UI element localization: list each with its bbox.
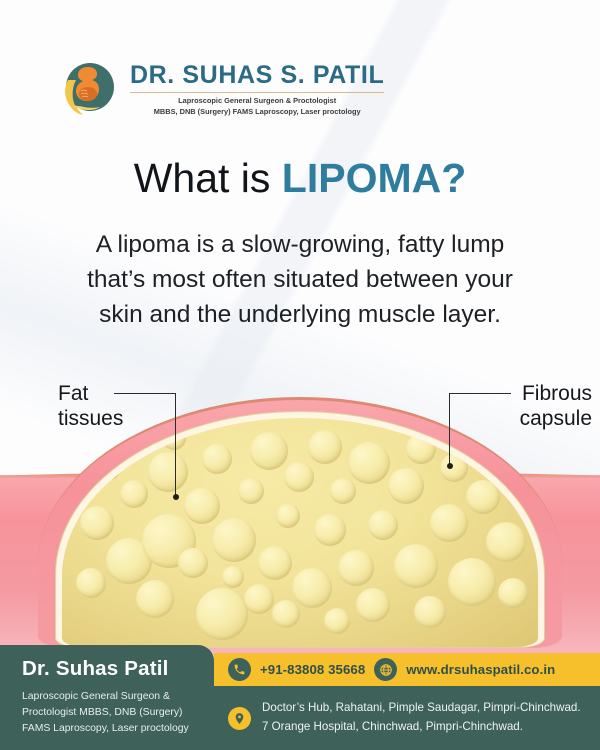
- brand-subtitle-line1: Laproscopic General Surgeon & Proctologi…: [130, 96, 384, 107]
- footer-credentials-line3: FAMS Laproscopy, Laser proctology: [22, 721, 202, 737]
- fibrous-capsule-anchor-dot: [447, 463, 453, 469]
- phone-icon: [228, 658, 251, 681]
- fat-tissues-leader-horizontal: [114, 393, 176, 394]
- address-line-2: 7 Orange Hospital, Chinchwad, Pimpri-Chi…: [262, 720, 523, 733]
- fat-tissues-leader-vertical: [175, 393, 176, 496]
- phone-number[interactable]: +91-83808 35668: [260, 662, 365, 677]
- fat-tissues-label-line1: Fat: [58, 382, 123, 407]
- footer-doctor-name: Dr. Suhas Patil: [22, 659, 202, 680]
- fibrous-capsule-label-line2: capsule: [520, 407, 592, 432]
- footer-credentials-line1: Laproscopic General Surgeon &: [22, 689, 202, 705]
- fibrous-capsule-label-line1: Fibrous: [520, 382, 592, 407]
- brand-divider: [130, 92, 384, 93]
- fat-tissues-label: Fat tissues: [58, 382, 123, 432]
- website-url[interactable]: www.drsuhaspatil.co.in: [406, 662, 555, 677]
- contact-bar: +91-83808 35668 www.drsuhaspatil.co.in: [214, 653, 600, 686]
- brand-header: DR. SUHAS S. PATIL Laproscopic General S…: [58, 58, 384, 120]
- page-title-prefix: What is: [134, 155, 282, 201]
- footer-doctor-block: Dr. Suhas Patil Laproscopic General Surg…: [0, 645, 214, 750]
- brand-name: DR. SUHAS S. PATIL: [130, 63, 384, 88]
- footer-credentials-line2: Proctologist MBBS, DNB (Surgery): [22, 705, 202, 721]
- address-lines: Doctor’s Hub, Rahatani, Pimple Saudagar,…: [262, 699, 581, 737]
- address-line-1: Doctor’s Hub, Rahatani, Pimple Saudagar,…: [262, 701, 581, 714]
- address-block: Doctor’s Hub, Rahatani, Pimple Saudagar,…: [214, 686, 600, 750]
- location-pin-icon: [228, 707, 251, 730]
- brand-subtitle-line2: MBBS, DNB (Surgery) FAMS Laproscopy, Las…: [130, 107, 384, 118]
- lipoma-diagram: Fat tissues Fibrous capsule: [0, 380, 600, 680]
- page-title-accent: LIPOMA?: [282, 155, 466, 201]
- fat-tissues-anchor-dot: [173, 494, 179, 500]
- fibrous-capsule-leader-horizontal: [449, 393, 511, 394]
- description-text: A lipoma is a slow-growing, fatty lump t…: [72, 228, 528, 332]
- stomach-in-hand-logo-icon: [58, 58, 120, 120]
- lipoma-infographic-poster: DR. SUHAS S. PATIL Laproscopic General S…: [0, 0, 600, 750]
- fibrous-capsule-leader-vertical: [449, 393, 450, 465]
- fibrous-capsule-label: Fibrous capsule: [520, 382, 592, 432]
- globe-icon: [374, 658, 397, 681]
- footer: Dr. Suhas Patil Laproscopic General Surg…: [0, 645, 600, 750]
- fat-tissues-label-line2: tissues: [58, 407, 123, 432]
- page-title: What is LIPOMA?: [0, 158, 600, 199]
